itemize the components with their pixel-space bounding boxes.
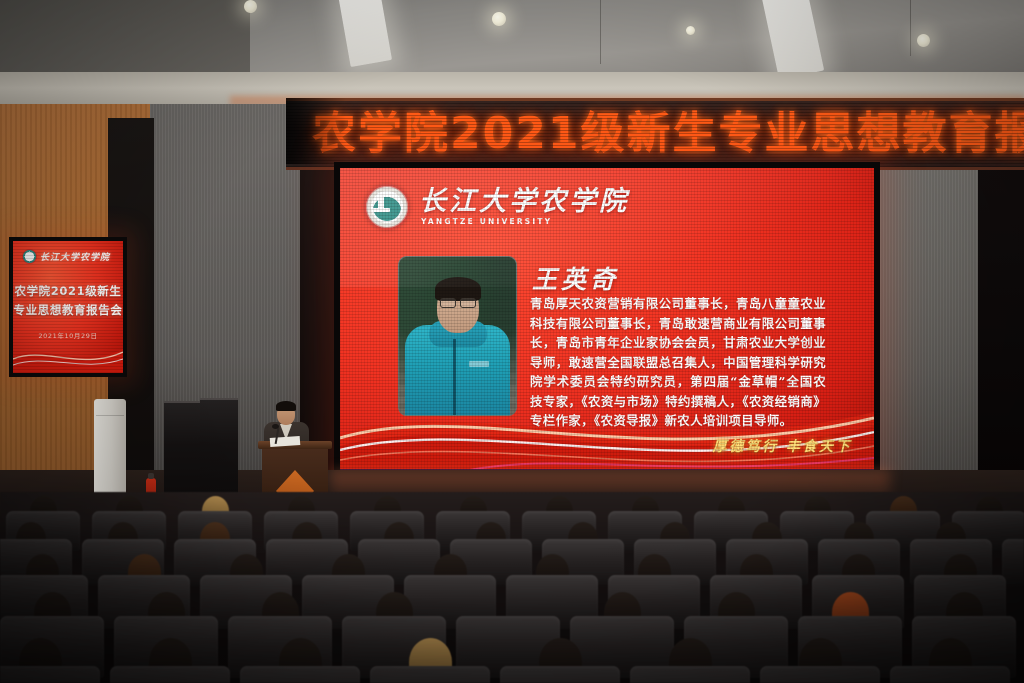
slide-slogan: 厚德笃行 丰食天下 (713, 436, 852, 456)
ceiling-light-panel (338, 0, 392, 67)
ceiling-downlight (244, 0, 257, 13)
institution-name-english: YANGTZE UNIVERSITY (421, 218, 629, 226)
emblem-ring (366, 186, 408, 228)
slide-wave-graphic (340, 376, 874, 480)
audience-seat (0, 666, 100, 683)
led-banner: 农学院2021级新生专业思想教育报告会 (286, 98, 1024, 170)
ceiling-downlight (917, 34, 930, 47)
side-title-line-2: 专业思想教育报告会 (13, 302, 123, 318)
side-title-line-1: 农学院2021级新生 (13, 283, 123, 299)
yangtze-university-emblem-icon (364, 184, 410, 230)
yangtze-university-emblem-icon-small (22, 249, 37, 264)
audience-seat (240, 666, 360, 683)
side-led-screen: 长江大学农学院 农学院2021级新生 专业思想教育报告会 2021年10月29日 (13, 241, 123, 373)
speaker-name: 王英奇 (532, 260, 619, 296)
portrait-jacket-logo (469, 361, 489, 367)
institution-name: 长江大学农学院 (419, 188, 629, 215)
audience-seat (110, 666, 230, 683)
side-slide-header: 长江大学农学院 (22, 249, 110, 264)
audience-seating (0, 492, 1024, 683)
fire-extinguisher-nozzle (148, 473, 154, 479)
side-led-screen-frame: 长江大学农学院 农学院2021级新生 专业思想教育报告会 2021年10月29日 (9, 237, 127, 377)
audience-seat (370, 666, 490, 683)
side-institution-name: 长江大学农学院 (40, 250, 110, 263)
led-banner-shadow (286, 98, 346, 164)
ceiling-downlight (492, 12, 506, 26)
ceiling-seam (910, 0, 911, 56)
slide-header-text: 长江大学农学院 YANGTZE UNIVERSITY (419, 188, 629, 226)
main-led-screen: 长江大学农学院 YANGTZE UNIVERSITY 王英奇 青岛厚天农资营销有… (340, 168, 874, 480)
auditorium-scene: 农学院2021级新生专业思想教育报告会 长江大学农学院 YANGTZE UNIV… (0, 0, 1024, 683)
audience-seat (890, 666, 1010, 683)
ceiling-seam (600, 0, 601, 64)
column-seam (96, 415, 124, 416)
side-wave-graphic (13, 339, 123, 373)
audience-seat (760, 666, 880, 683)
audience-seat (630, 666, 750, 683)
ceiling-downlight (686, 26, 695, 35)
ceiling-light-panel (762, 0, 824, 80)
ceiling (0, 0, 1024, 104)
led-banner-text: 农学院2021级新生专业思想教育报告会 (312, 103, 1024, 165)
presenter-hair (276, 401, 296, 411)
slide-header: 长江大学农学院 YANGTZE UNIVERSITY (364, 184, 629, 230)
audience-seat (500, 666, 620, 683)
main-led-screen-frame: 长江大学农学院 YANGTZE UNIVERSITY 王英奇 青岛厚天农资营销有… (334, 162, 880, 486)
microphone-head-icon (272, 424, 279, 429)
portrait-glasses-icon (440, 298, 476, 306)
